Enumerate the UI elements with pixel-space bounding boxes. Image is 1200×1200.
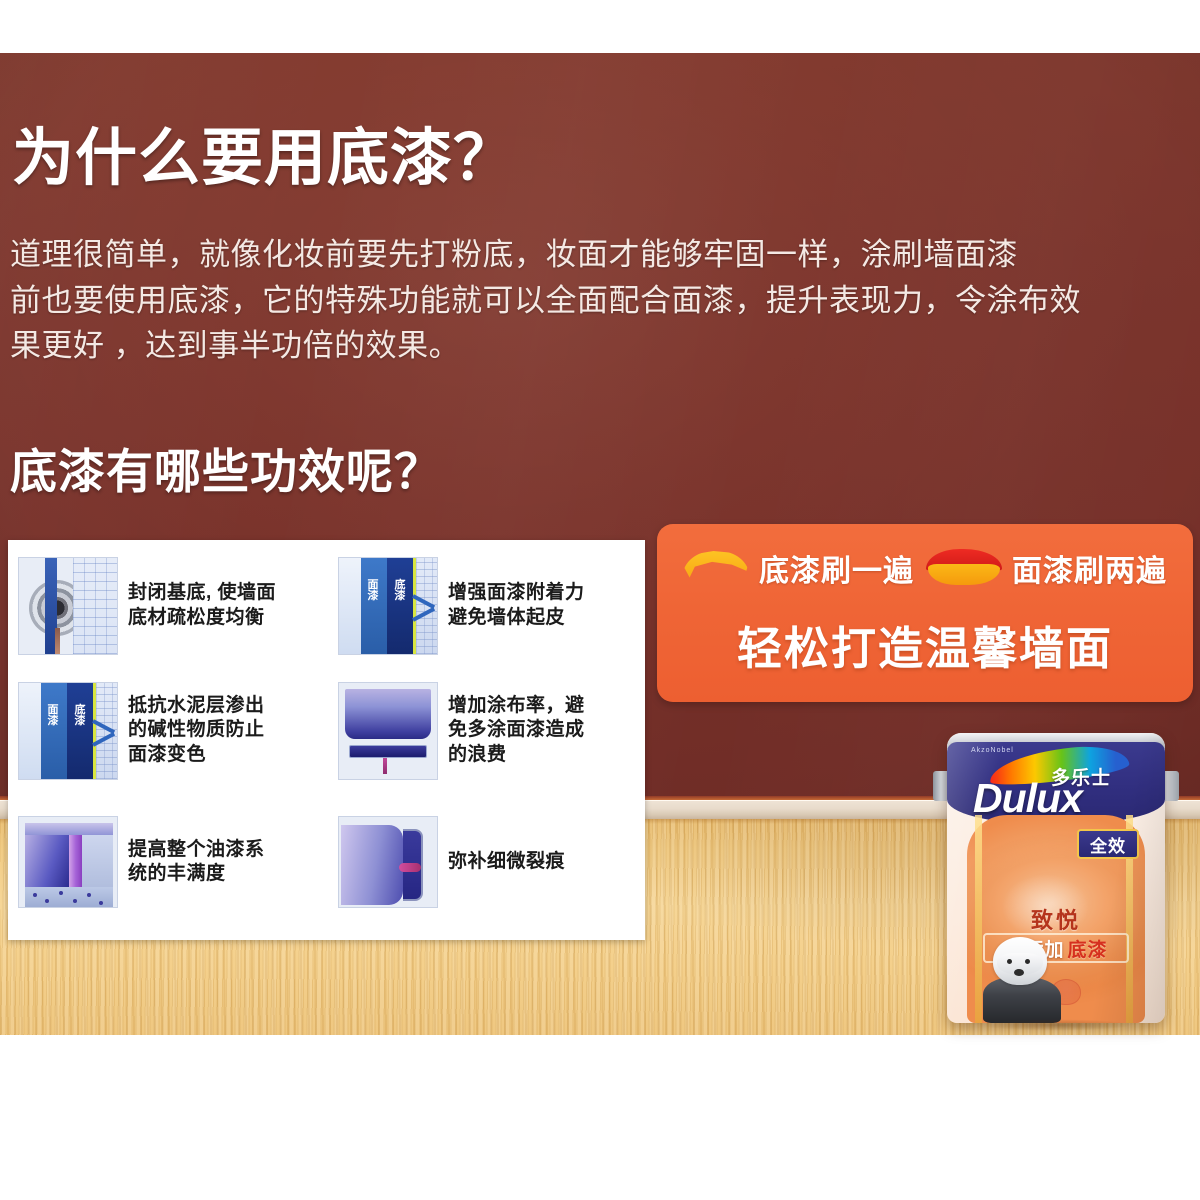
layer-label-primer: 底漆: [68, 705, 92, 728]
dog-nose: [1014, 969, 1024, 976]
film-column-shape: [69, 835, 82, 891]
painted-panel-shape: [345, 689, 431, 739]
layer-topcoat: [41, 683, 67, 779]
sheepdog-mascot-icon: [983, 937, 1061, 1023]
tagline-primer: 底漆: [1068, 935, 1108, 962]
layer-label-topcoat: 面漆: [361, 580, 385, 603]
intro-line-1: 道理很简单，就像化妆前要先打粉底，妆面才能够牢固一样，涂刷墙面漆: [10, 232, 1195, 278]
layer-outer: [19, 683, 41, 779]
layer-topcoat: [361, 558, 387, 654]
benefit-line-2: 统的丰满度: [128, 862, 265, 886]
paint-layers-icon: 面漆 底漆: [338, 557, 438, 655]
promo-page: 为什么要用底漆？ 道理很简单，就像化妆前要先打粉底，妆面才能够牢固一样，涂刷墙面…: [0, 0, 1200, 1200]
intro-line-2: 前也要使用底漆，它的特殊功能就可以全面配合面漆，提升表现力，令涂布效: [10, 278, 1195, 324]
topcoat-step-label: 面漆刷两遍: [1012, 546, 1167, 590]
benefit-text: 增加涂布率，避 免多涂面漆造成 的浪费: [448, 694, 585, 767]
benefit-item-seal-base: 封闭基底, 使墙面 底材疏松度均衡: [14, 548, 334, 663]
benefit-text: 抵抗水泥层渗出 的碱性物质防止 面漆变色: [128, 694, 265, 767]
benefit-item-coverage: 增加涂布率，避 免多涂面漆造成 的浪费: [334, 663, 651, 798]
benefit-line-1: 封闭基底, 使墙面: [128, 581, 276, 605]
layer-outer: [339, 558, 361, 654]
benefit-text: 提高整个油漆系 统的丰满度: [128, 838, 265, 887]
benefit-line-1: 提高整个油漆系: [128, 838, 265, 862]
step-topcoat: 面漆刷两遍: [926, 546, 1167, 590]
benefit-text: 封闭基底, 使墙面 底材疏松度均衡: [128, 581, 276, 630]
can-floor-shadow: [951, 1017, 1161, 1033]
crack-fill-icon: [338, 816, 438, 908]
paint-can-product[interactable]: AkzoNobel 多乐士 Dulux 全效 致悦 无添加 底漆: [941, 733, 1171, 1023]
paint-film-icon: [18, 816, 118, 908]
dog-eye-left: [1007, 959, 1012, 964]
dog-eye-right: [1025, 959, 1030, 964]
benefit-line-2: 的碱性物质防止: [128, 718, 265, 742]
product-name: 致悦: [967, 903, 1145, 935]
roller-handle-shape: [383, 758, 387, 774]
benefit-line-2: 免多涂面漆造成: [448, 718, 585, 742]
benefit-text: 弥补细微裂痕: [448, 850, 565, 874]
step-primer: 底漆刷一遍: [683, 546, 914, 590]
manufacturer-microtext: AkzoNobel: [971, 747, 1014, 754]
layer-primer: [387, 558, 413, 654]
can-body: AkzoNobel 多乐士 Dulux 全效 致悦 无添加 底漆: [947, 733, 1165, 1023]
steps-row: 底漆刷一遍 面漆刷两遍: [657, 546, 1193, 590]
blue-bar-shape: [45, 558, 57, 654]
wall-block-shape: [341, 825, 403, 905]
benefit-line-2: 底材疏松度均衡: [128, 606, 276, 630]
brick-grid-shape: [73, 558, 117, 654]
film-left-shape: [25, 835, 69, 889]
benefit-text: 增强面漆附着力 避免墙体起皮: [448, 581, 585, 630]
application-steps-panel: 底漆刷一遍 面漆刷两遍 轻松打造温馨墙面: [657, 524, 1193, 702]
benefit-line-1: 增加涂布率，避: [448, 694, 585, 718]
benefit-line-3: 的浪费: [448, 743, 585, 767]
benefit-line-3: 面漆变色: [128, 743, 265, 767]
primer-stroke-icon: [683, 551, 749, 585]
benefits-card: 封闭基底, 使墙面 底材疏松度均衡 面漆 底漆 增强面漆附着力: [8, 540, 645, 940]
primer-step-label: 底漆刷一遍: [759, 546, 914, 590]
panel-tagline: 轻松打造温馨墙面: [657, 612, 1193, 677]
page-title: 为什么要用底漆？: [12, 128, 516, 190]
benefit-line-1: 增强面漆附着力: [448, 581, 585, 605]
benefit-line-1: 抵抗水泥层渗出: [128, 694, 265, 718]
layer-label-topcoat: 面漆: [41, 705, 65, 728]
benefit-item-fullness: 提高整个油漆系 统的丰满度: [14, 798, 334, 926]
wall-cross-section-icon: [18, 557, 118, 655]
intro-paragraph: 道理很简单，就像化妆前要先打粉底，妆面才能够牢固一样，涂刷墙面漆 前也要使用底漆…: [10, 232, 1195, 369]
filler-shape: [399, 863, 421, 872]
product-badge: 全效: [1077, 829, 1139, 859]
paint-roller-icon: [338, 682, 438, 780]
benefit-item-alkali: 面漆 底漆 抵抗水泥层渗出 的碱性物质防止 面漆变色: [14, 663, 334, 798]
roller-body-shape: [349, 745, 427, 758]
benefit-item-cracks: 弥补细微裂痕: [334, 798, 651, 926]
topcoat-stroke-icon: [926, 549, 1002, 587]
benefit-line-1: 弥补细微裂痕: [448, 850, 565, 874]
film-right-shape: [82, 835, 113, 889]
section-title-benefits: 底漆有哪些功效呢？: [10, 448, 442, 495]
benefit-item-adhesion: 面漆 底漆 增强面漆附着力 避免墙体起皮: [334, 548, 651, 663]
bond-arrow-icon: [413, 588, 438, 628]
can-label-field: 全效 致悦 无添加 底漆: [967, 815, 1145, 1023]
intro-line-3: 果更好 ，达到事半功倍的效果。: [10, 323, 1195, 369]
layer-label-primer: 底漆: [388, 580, 412, 603]
benefit-line-2: 避免墙体起皮: [448, 606, 585, 630]
layer-primer: [67, 683, 93, 779]
paint-layers-icon: 面漆 底漆: [18, 682, 118, 780]
bond-arrow-icon: [93, 713, 118, 753]
benefits-grid: 封闭基底, 使墙面 底材疏松度均衡 面漆 底漆 增强面漆附着力: [8, 540, 645, 940]
